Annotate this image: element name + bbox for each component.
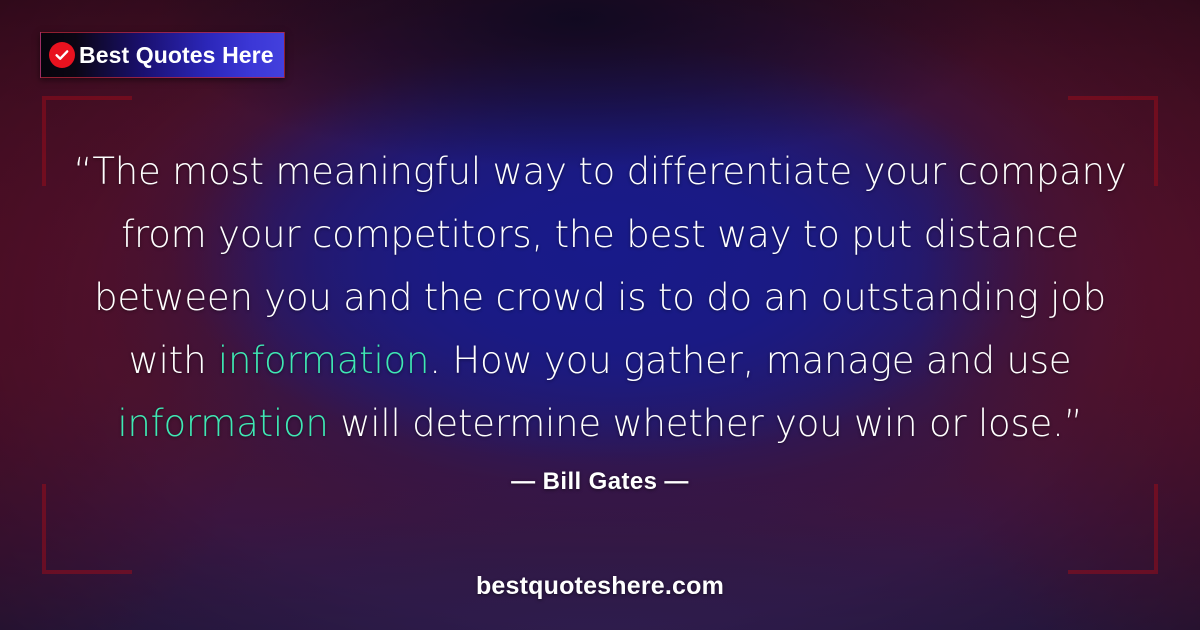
footer-website: bestquoteshere.com [0,572,1200,601]
quote-segment: . How you gather, manage and use [429,339,1071,382]
quote-author: — Bill Gates — [0,468,1200,496]
brand-badge-label: Best Quotes Here [79,44,274,67]
corner-bracket-bottom-left [42,484,132,574]
quote-segment: between you and the crowd is to do an ou… [94,276,1106,319]
quote-line: with information. How you gather, manage… [62,329,1138,392]
brand-badge[interactable]: Best Quotes Here [40,32,285,78]
quote-segment: “The most meaningful way to differentiat… [73,150,1126,193]
quote-card: Best Quotes Here “The most meaningful wa… [0,0,1200,630]
quote-segment: from your competitors, the best way to p… [121,213,1079,256]
quote-line: “The most meaningful way to differentiat… [62,140,1138,203]
quote-line: information will determine whether you w… [62,392,1138,455]
quote-line: between you and the crowd is to do an ou… [62,266,1138,329]
quote-segment: with [129,339,218,382]
quote-line: from your competitors, the best way to p… [62,203,1138,266]
quote-highlight-word: information [218,339,429,382]
quote-highlight-word: information [117,402,328,445]
quote-segment: will determine whether you win or lose.” [329,402,1083,445]
corner-bracket-bottom-right [1068,484,1158,574]
quote-text: “The most meaningful way to differentiat… [0,140,1200,455]
check-circle-icon [49,42,75,68]
